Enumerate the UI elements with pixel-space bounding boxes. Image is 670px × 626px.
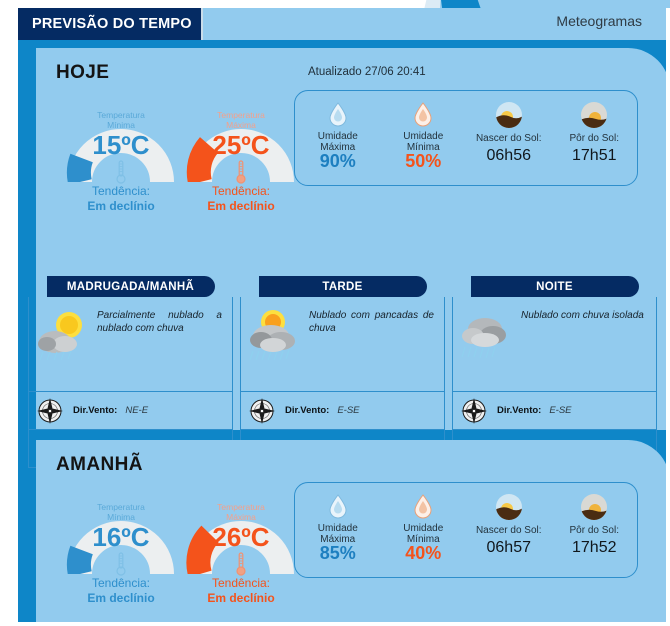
humidity-min-label: Umidade Mínima <box>403 523 443 545</box>
thermometer-hot-icon <box>234 552 248 576</box>
sunset-icon <box>580 493 608 521</box>
meteogramas-link[interactable]: Meteogramas <box>556 13 642 29</box>
period-title: TARDE <box>259 276 427 297</box>
period-condition-row: Nublado com pancadas de chuva <box>241 297 444 391</box>
today-card: HOJE Atualizado 27/06 20:41 Temperatura … <box>36 48 670 430</box>
tomorrow-max-temp-gauge: Temperatura Máxima 26ºC Tendência: Em de… <box>176 482 306 606</box>
today-min-temp-value: 15ºC <box>58 131 184 159</box>
humidity-max-cell: Umidade Máxima 90% <box>295 91 381 185</box>
sun-cloud-rain-icon <box>35 305 93 361</box>
trend-value: Em declínio <box>56 591 186 606</box>
thermometer-cold-icon <box>114 552 128 576</box>
trend-value: Em declínio <box>176 199 306 214</box>
sunset-label: Pôr do Sol: <box>570 133 619 144</box>
today-min-temp-gauge: Temperatura Mínima 15ºC Tendência: Em de… <box>56 90 186 214</box>
wind-direction-label: Dir.Vento: <box>285 405 329 416</box>
period-title: NOITE <box>471 276 639 297</box>
humidity-max-label: Umidade Máxima <box>318 523 358 545</box>
wind-direction-label: Dir.Vento: <box>73 405 117 416</box>
humidity-max-cell: Umidade Máxima 85% <box>295 483 381 577</box>
cloud-rain-icon <box>459 305 517 361</box>
sunset-cell: Pôr do Sol: 17h52 <box>552 483 638 577</box>
tomorrow-max-trend: Tendência: Em declínio <box>176 576 306 606</box>
period-condition-row: Parcialmente nublado a nublado com chuva <box>29 297 232 391</box>
tomorrow-max-temp-value: 26ºC <box>178 523 304 551</box>
sunset-value: 17h51 <box>572 146 617 166</box>
tomorrow-info-panel: Umidade Máxima 85% Umidade Mínima 40% <box>294 482 638 578</box>
humidity-min-cell: Umidade Mínima 40% <box>381 483 467 577</box>
water-drop-blue-icon <box>327 101 349 127</box>
wind-direction-value: E-SE <box>337 405 359 416</box>
humidity-max-value: 85% <box>320 544 356 563</box>
sunset-label: Pôr do Sol: <box>570 525 619 536</box>
tomorrow-min-temp-value: 16ºC <box>58 523 184 551</box>
trend-label: Tendência: <box>56 576 186 591</box>
wind-direction-row: Dir.Vento: E-SE <box>241 391 444 429</box>
sun-cloud-heavy-rain-icon <box>247 305 305 361</box>
gauge-caption-line2: Mínima <box>58 120 184 130</box>
sunset-icon <box>580 101 608 129</box>
trend-label: Tendência: <box>56 184 186 199</box>
gauge-caption-line2: Máxima <box>178 120 304 130</box>
period-condition-text: Nublado com chuva isolada <box>521 305 644 322</box>
sunrise-label: Nascer do Sol: <box>476 525 542 536</box>
today-info-panel: Umidade Máxima 90% Umidade Mínima 50% <box>294 90 638 186</box>
tomorrow-min-temp-gauge: Temperatura Mínima 16ºC Tendência: Em de… <box>56 482 186 606</box>
humidity-min-label: Umidade Mínima <box>403 131 443 153</box>
humidity-min-value: 50% <box>405 152 441 171</box>
water-drop-orange-icon <box>412 493 434 519</box>
scrollbar-gutter[interactable] <box>666 8 670 626</box>
humidity-max-label-line1: Umidade <box>318 131 358 142</box>
app-title-tab: PREVISÃO DO TEMPO <box>18 8 203 40</box>
trend-label: Tendência: <box>176 184 306 199</box>
gauge-caption-line1: Temperatura <box>178 502 304 512</box>
today-max-temp-value: 25ºC <box>178 131 304 159</box>
thermometer-cold-icon <box>114 160 128 184</box>
water-drop-orange-icon <box>412 101 434 127</box>
period-condition-text: Nublado com pancadas de chuva <box>309 305 434 335</box>
humidity-min-value: 40% <box>405 544 441 563</box>
today-max-temp-gauge: Temperatura Máxima 25ºC Tendência: Em de… <box>176 90 306 214</box>
sunrise-icon <box>495 493 523 521</box>
tomorrow-min-trend: Tendência: Em declínio <box>56 576 186 606</box>
today-min-trend: Tendência: Em declínio <box>56 184 186 214</box>
weather-forecast-page: PREVISÃO DO TEMPO Meteogramas HOJE Atual… <box>0 0 670 626</box>
humidity-max-value: 90% <box>320 152 356 171</box>
water-drop-blue-icon <box>327 493 349 519</box>
period-condition-text: Parcialmente nublado a nublado com chuva <box>97 305 222 335</box>
humidity-max-label: Umidade Máxima <box>318 131 358 153</box>
wind-direction-value: NE-E <box>125 405 148 416</box>
trend-value: Em declínio <box>56 199 186 214</box>
wind-direction-row: Dir.Vento: NE-E <box>29 391 232 429</box>
humidity-max-label-line1: Umidade <box>318 523 358 534</box>
humidity-min-label-line1: Umidade <box>403 131 443 142</box>
page-bottom-edge <box>0 622 670 626</box>
gauge-caption-line2: Mínima <box>58 512 184 522</box>
tomorrow-card: AMANHÃ Temperatura Mínima 16ºC <box>36 440 670 626</box>
today-max-trend: Tendência: Em declínio <box>176 184 306 214</box>
sunrise-value: 06h56 <box>487 146 532 166</box>
tomorrow-section-title: AMANHÃ <box>56 454 143 476</box>
wind-direction-row: Dir.Vento: E-SE <box>453 391 656 429</box>
sunrise-label: Nascer do Sol: <box>476 133 542 144</box>
sunrise-cell: Nascer do Sol: 06h56 <box>466 91 552 185</box>
gauge-caption-line1: Temperatura <box>58 110 184 120</box>
compass-icon <box>247 396 277 426</box>
thermometer-hot-icon <box>234 160 248 184</box>
gauge-caption-line1: Temperatura <box>58 502 184 512</box>
updated-timestamp: Atualizado 27/06 20:41 <box>308 66 426 78</box>
humidity-min-label-line1: Umidade <box>403 523 443 534</box>
period-title: MADRUGADA/MANHÃ <box>47 276 215 297</box>
today-section-title: HOJE <box>56 62 109 84</box>
gauge-caption-line2: Máxima <box>178 512 304 522</box>
period-condition-row: Nublado com chuva isolada <box>453 297 656 391</box>
wind-direction-label: Dir.Vento: <box>497 405 541 416</box>
compass-icon <box>35 396 65 426</box>
sunrise-icon <box>495 101 523 129</box>
trend-value: Em declínio <box>176 591 306 606</box>
humidity-min-cell: Umidade Mínima 50% <box>381 91 467 185</box>
sunrise-value: 06h57 <box>487 538 532 558</box>
sunset-cell: Pôr do Sol: 17h51 <box>552 91 638 185</box>
trend-label: Tendência: <box>176 576 306 591</box>
sunset-value: 17h52 <box>572 538 617 558</box>
wind-direction-value: E-SE <box>549 405 571 416</box>
compass-icon <box>459 396 489 426</box>
gauge-caption-line1: Temperatura <box>178 110 304 120</box>
sunrise-cell: Nascer do Sol: 06h57 <box>466 483 552 577</box>
